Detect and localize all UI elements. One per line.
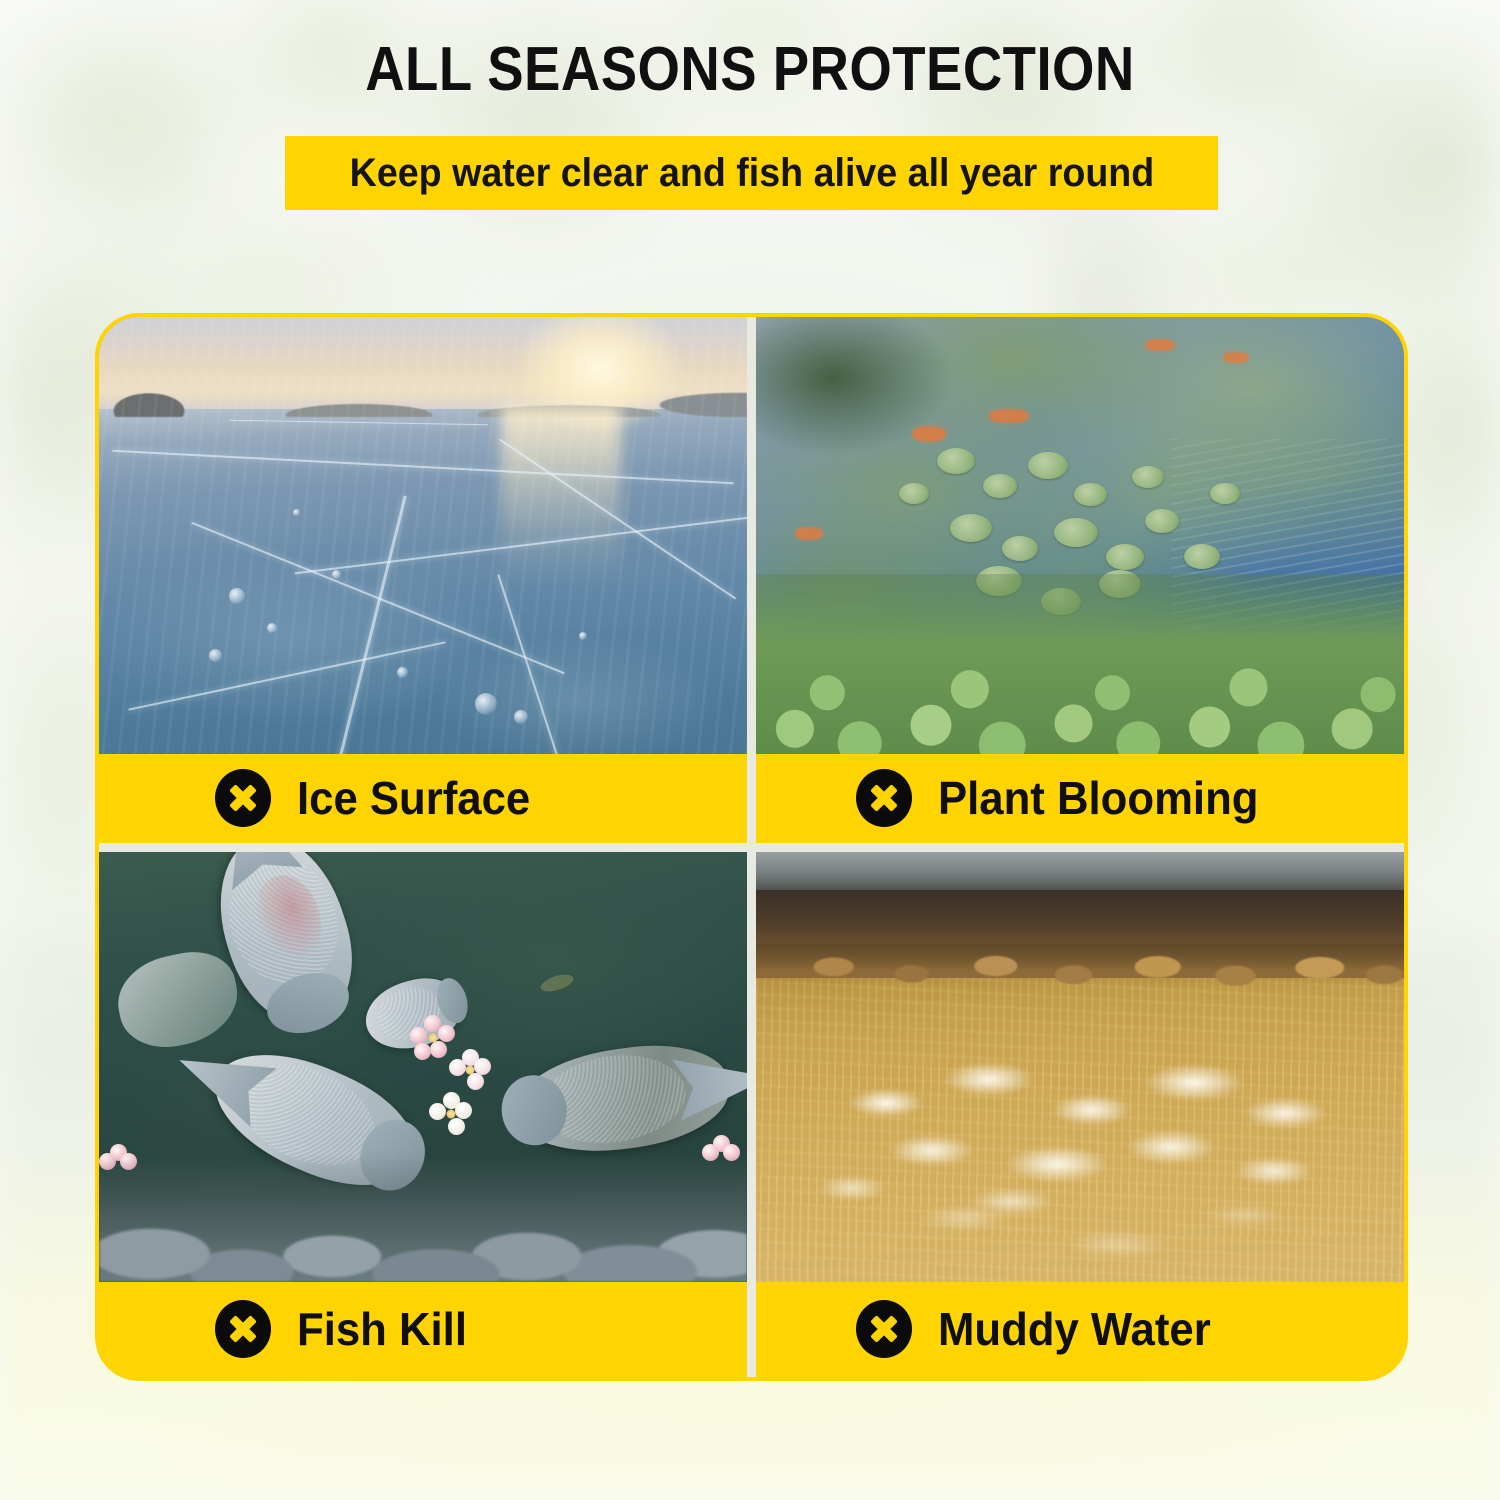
label-bar-fish-kill: Fish Kill bbox=[99, 1282, 747, 1378]
subtitle-banner: Keep water clear and fish alive all year… bbox=[285, 136, 1218, 210]
label-bar-plant-blooming: Plant Blooming bbox=[756, 754, 1404, 843]
label-text-plant-blooming: Plant Blooming bbox=[938, 771, 1258, 825]
photo-plant-blooming bbox=[756, 317, 1404, 754]
x-mark-icon bbox=[215, 769, 271, 827]
ice-bubbles bbox=[99, 317, 747, 754]
grid-cell-fish-kill: Fish Kill bbox=[99, 852, 747, 1378]
label-text-ice-surface: Ice Surface bbox=[297, 771, 530, 825]
photo-muddy-water bbox=[756, 852, 1404, 1282]
subtitle-text: Keep water clear and fish alive all year… bbox=[349, 151, 1154, 196]
water-foam bbox=[873, 1182, 1327, 1282]
infographic-canvas: ALL SEASONS PROTECTION Keep water clear … bbox=[0, 0, 1500, 1500]
grid-cell-plant-blooming: Plant Blooming bbox=[756, 317, 1404, 843]
flower bbox=[449, 1049, 491, 1091]
label-bar-muddy-water: Muddy Water bbox=[756, 1282, 1404, 1378]
label-bar-ice-surface: Ice Surface bbox=[99, 754, 747, 843]
x-mark-icon bbox=[856, 1300, 912, 1358]
flower bbox=[429, 1092, 473, 1136]
grid-cell-muddy-water: Muddy Water bbox=[756, 852, 1404, 1378]
label-text-fish-kill: Fish Kill bbox=[297, 1302, 467, 1356]
problem-grid: Ice Surface bbox=[95, 313, 1408, 1381]
grid-cell-ice-surface: Ice Surface bbox=[99, 317, 747, 843]
x-mark-icon bbox=[856, 769, 912, 827]
photo-fish-kill bbox=[99, 852, 747, 1282]
x-mark-icon bbox=[215, 1300, 271, 1358]
label-text-muddy-water: Muddy Water bbox=[938, 1302, 1211, 1356]
photo-ice-surface bbox=[99, 317, 747, 754]
page-title: ALL SEASONS PROTECTION bbox=[90, 34, 1410, 105]
